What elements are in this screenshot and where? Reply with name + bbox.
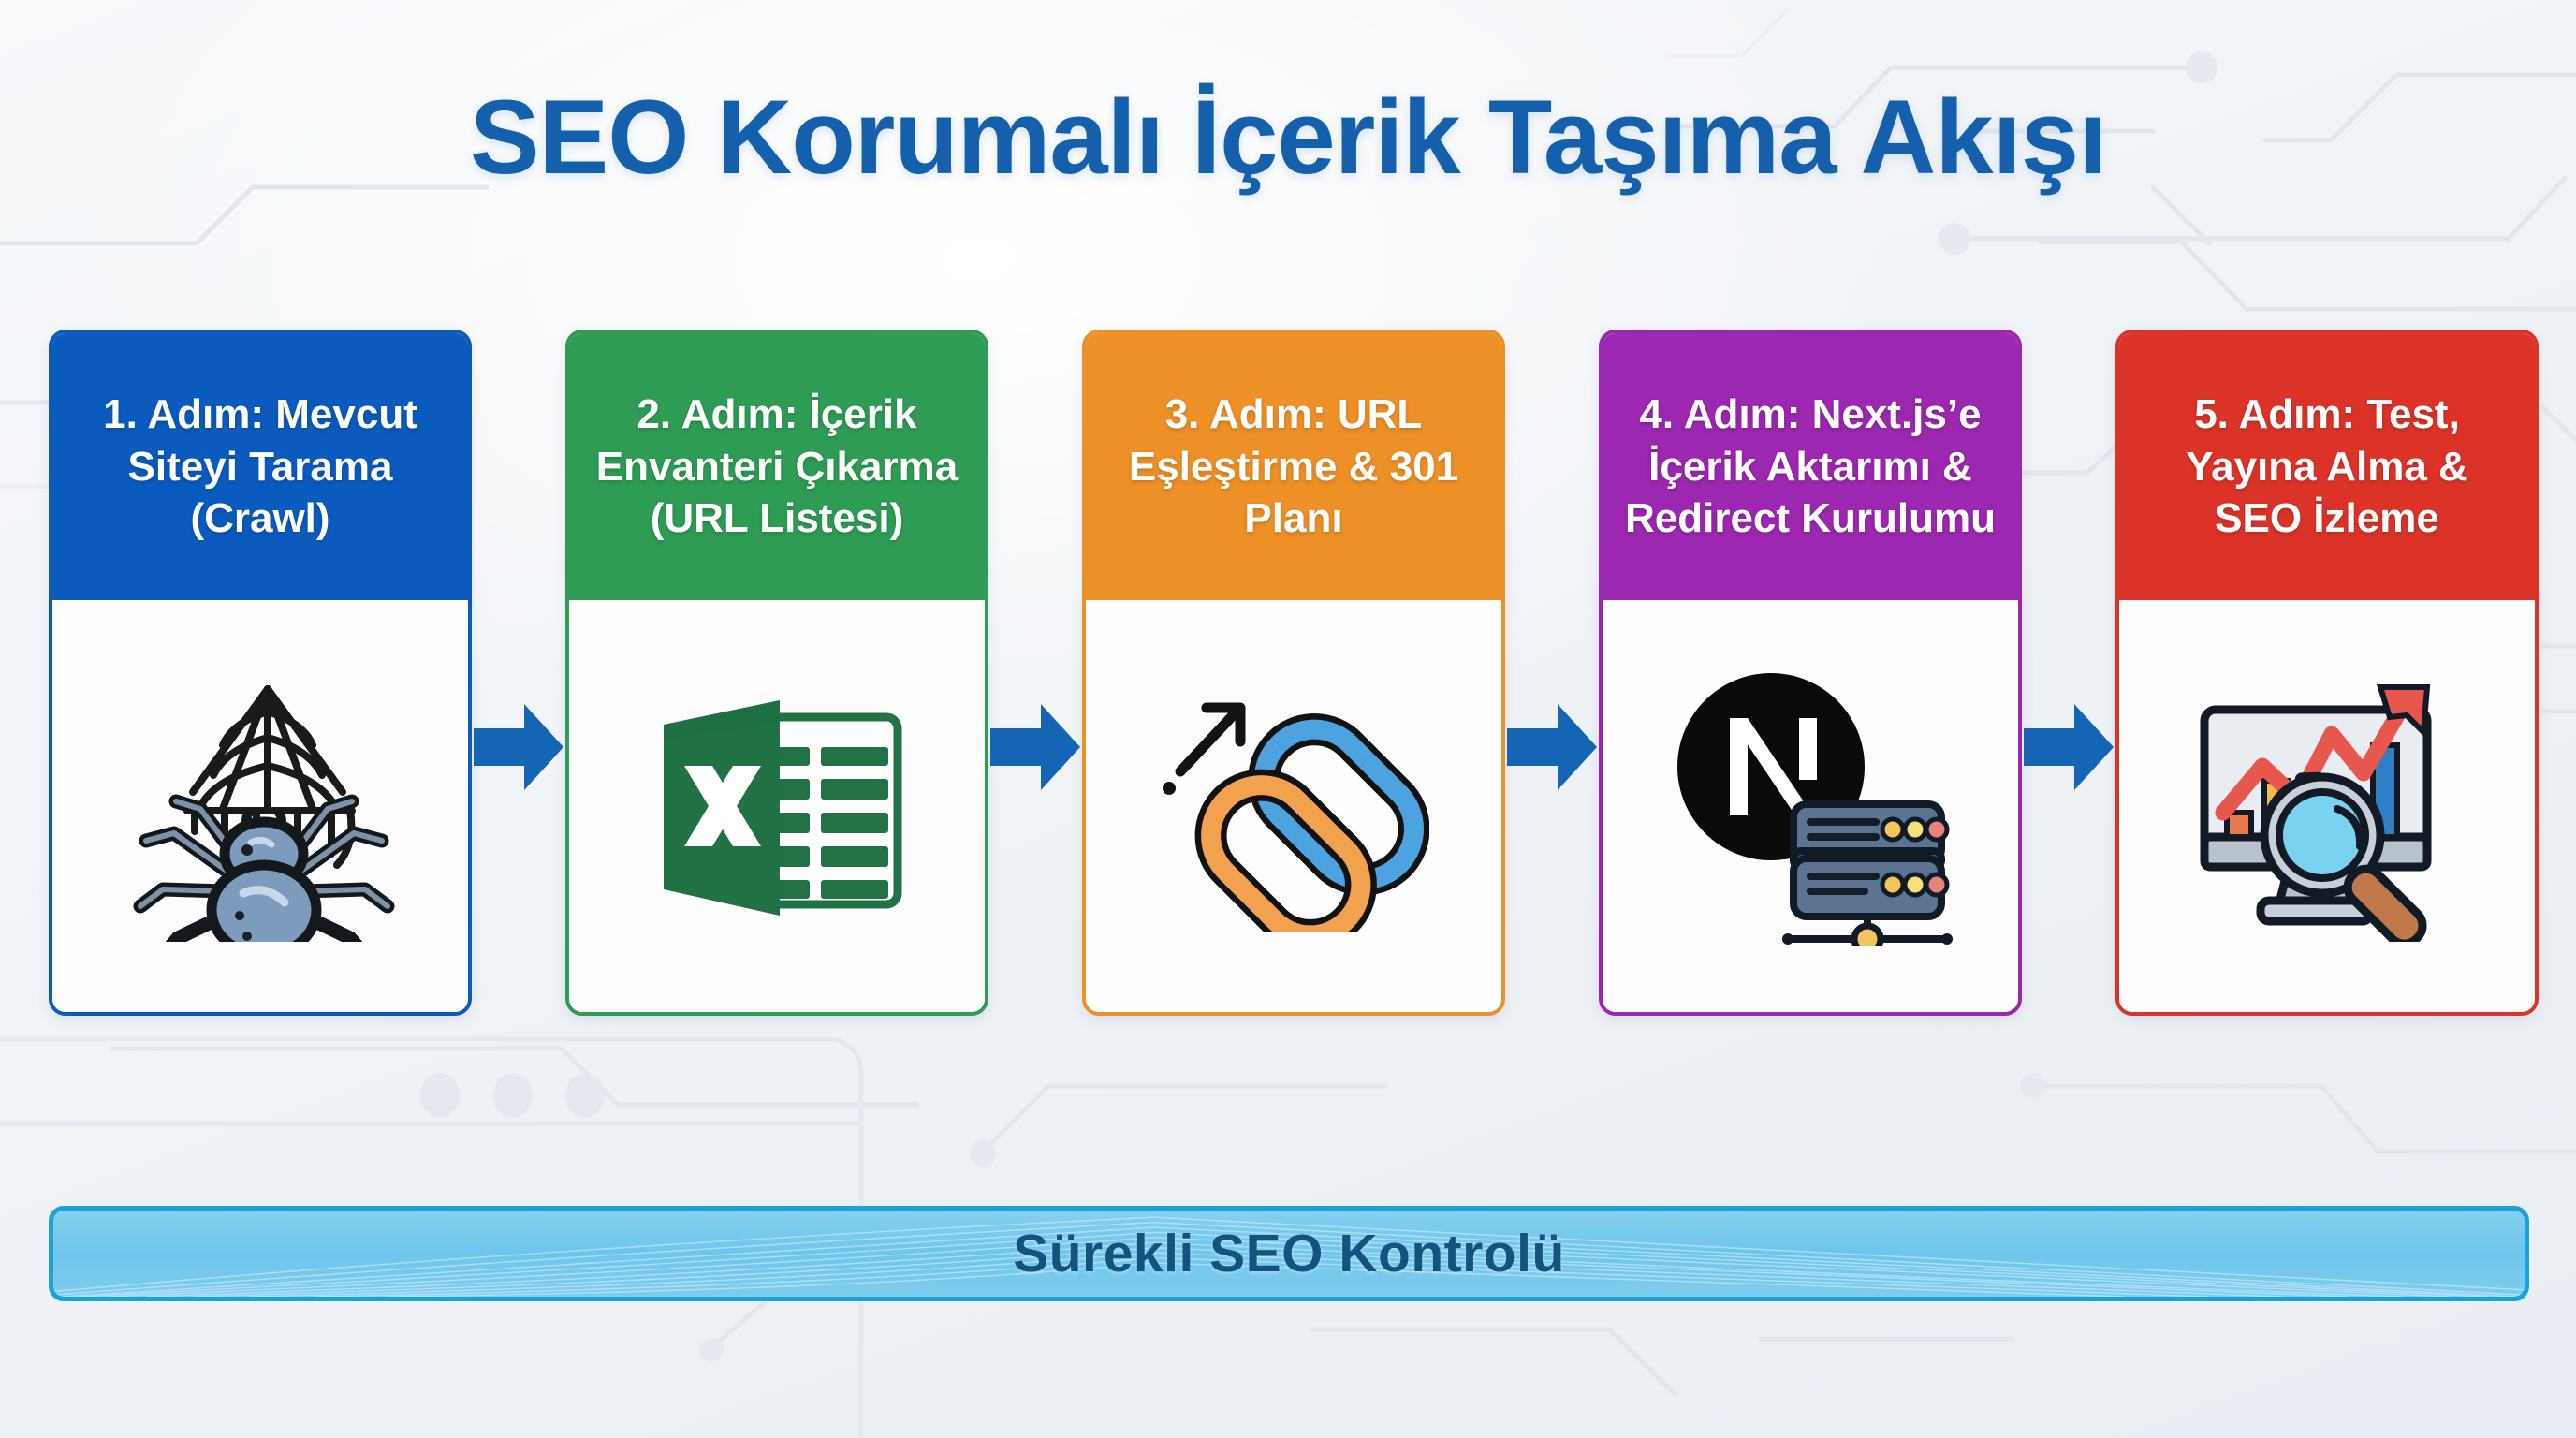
step-card-3-body (1086, 600, 1501, 1012)
spider-web-crawler-icon (120, 670, 401, 942)
step-card-4[interactable]: 4. Adım: Next.js’e İçerik Aktarımı & Red… (1599, 330, 2022, 1016)
step-card-1[interactable]: 1. Adım: Mevcut Siteyi Tarama (Crawl) (49, 330, 472, 1016)
right-arrow-icon (1507, 704, 1597, 790)
step-card-5[interactable]: 5. Adım: Test, Yayına Alma & SEO İzleme (2115, 330, 2539, 1016)
step-card-2-title: 2. Adım: İçerik Envanteri Çıkarma (URL L… (590, 389, 964, 544)
step-card-3-header: 3. Adım: URL Eşleştirme & 301 Planı (1086, 333, 1501, 600)
right-arrow-icon (474, 704, 563, 790)
step-card-2-body (569, 600, 985, 1012)
step-card-4-header: 4. Adım: Next.js’e İçerik Aktarımı & Red… (1603, 333, 2018, 600)
step-card-1-title: 1. Adım: Mevcut Siteyi Tarama (Crawl) (73, 389, 447, 544)
step-card-5-header: 5. Adım: Test, Yayına Alma & SEO İzleme (2119, 333, 2535, 600)
flow-arrow-4 (2022, 704, 2115, 790)
flow-arrow-3 (1505, 704, 1599, 790)
analytics-monitor-magnifier-icon (2182, 670, 2472, 942)
step-card-1-header: 1. Adım: Mevcut Siteyi Tarama (Crawl) (52, 333, 468, 600)
flow-arrow-1 (472, 704, 565, 790)
nextjs-server-icon (1661, 666, 1960, 946)
step-card-3[interactable]: 3. Adım: URL Eşleştirme & 301 Planı (1082, 330, 1505, 1016)
step-card-3-title: 3. Adım: URL Eşleştirme & 301 Planı (1106, 389, 1481, 544)
step-card-2-header: 2. Adım: İçerik Envanteri Çıkarma (URL L… (569, 333, 985, 600)
page-title-container: SEO Korumalı İçerik Taşıma Akışı (0, 82, 2576, 193)
banner-label: Sürekli SEO Kontrolü (1013, 1223, 1565, 1284)
process-flow-row: 1. Adım: Mevcut Siteyi Tarama (Crawl) (49, 330, 2529, 1022)
infographic-root: SEO Korumalı İçerik Taşıma Akışı 1. Adım… (0, 0, 2576, 1438)
step-card-4-body (1603, 600, 2018, 1012)
excel-spreadsheet-icon (651, 689, 903, 923)
step-card-5-title: 5. Adım: Test, Yayına Alma & SEO İzleme (2140, 389, 2514, 544)
flow-arrow-2 (988, 704, 1082, 790)
step-card-1-body (52, 600, 468, 1012)
right-arrow-icon (2024, 704, 2114, 790)
step-card-5-body (2119, 600, 2535, 1012)
page-title: SEO Korumalı İçerik Taşıma Akışı (470, 82, 2106, 193)
right-arrow-icon (990, 704, 1080, 790)
step-card-4-title: 4. Adım: Next.js’e İçerik Aktarımı & Red… (1623, 389, 1998, 544)
step-card-2[interactable]: 2. Adım: İçerik Envanteri Çıkarma (URL L… (565, 330, 988, 1016)
chain-link-redirect-icon (1158, 680, 1429, 932)
continuous-seo-banner[interactable]: Sürekli SEO Kontrolü (49, 1206, 2529, 1301)
